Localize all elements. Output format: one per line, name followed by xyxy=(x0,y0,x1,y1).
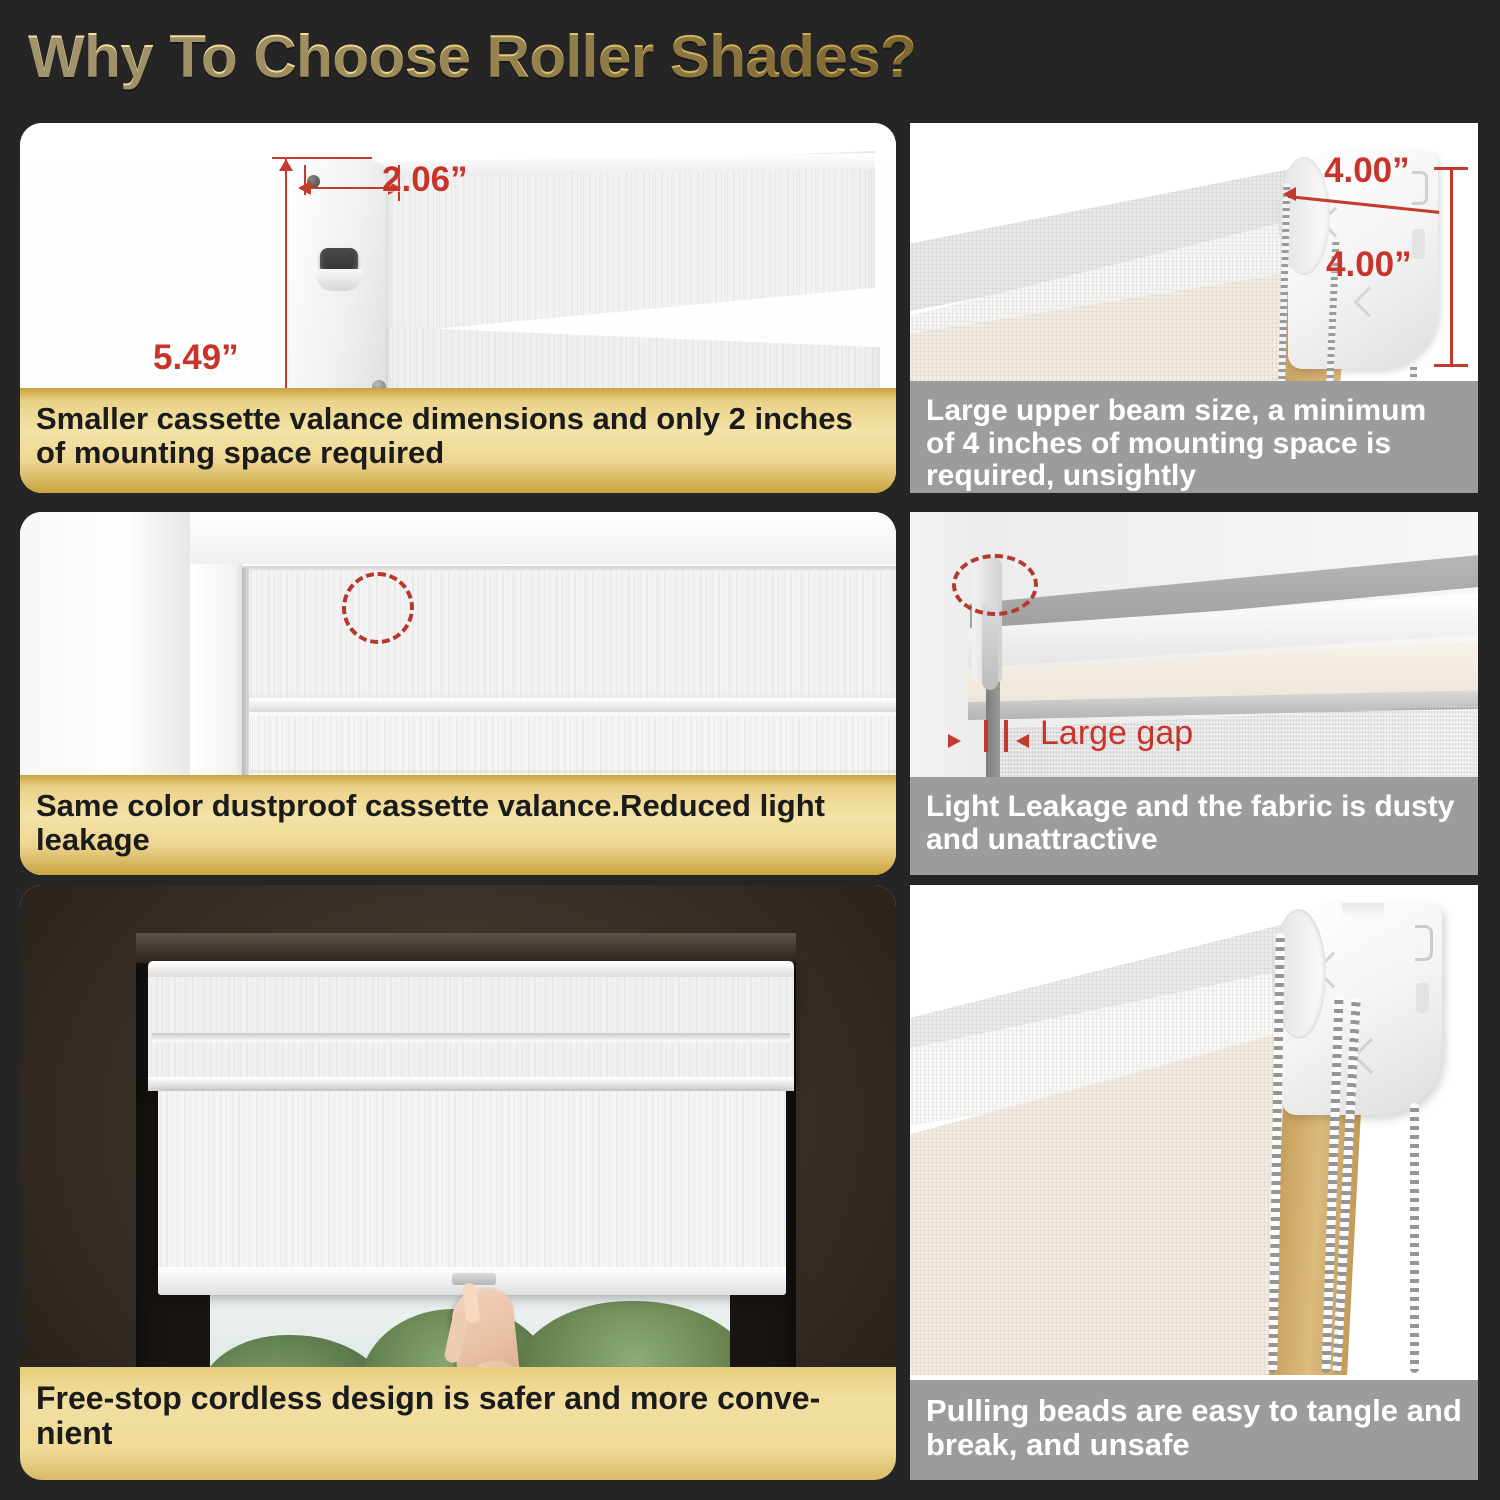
cassette-valance xyxy=(242,568,896,704)
panel-4-caption-text: Light Leakage and the fabric is dusty an… xyxy=(926,791,1462,856)
panel-4-caption: Light Leakage and the fabric is dusty an… xyxy=(910,777,1478,875)
clutch-bracket-mount-slot-2 xyxy=(1416,983,1429,1013)
clutch-bracket-mount-slot-1 xyxy=(1415,925,1433,961)
valance-top-edge xyxy=(148,961,794,977)
gap-tick-b xyxy=(1004,720,1008,752)
panel-6-caption-text: Pulling beads are easy to tangle and bre… xyxy=(926,1394,1462,1462)
valance-bottom-lip xyxy=(242,698,896,712)
bead-chain-4 xyxy=(1410,1103,1419,1373)
dim2-width-label: 4.00” xyxy=(1324,151,1410,191)
gap-arrow-right xyxy=(948,734,961,748)
panel-1-caption-text: Smaller cassette valance dimensions and … xyxy=(36,402,880,470)
gap-tick-a xyxy=(984,720,988,752)
valance-groove xyxy=(152,1033,790,1042)
clutch-bracket-mount-slot-2 xyxy=(1412,229,1425,259)
clutch-bracket-top-notch xyxy=(1342,903,1384,917)
valance-bottom-edge xyxy=(148,1077,794,1091)
panel-3-caption-text: Same color dustproof cassette valance.Re… xyxy=(36,789,880,857)
page-title: Why To Choose Roller Shades? xyxy=(28,22,916,91)
panel-2: 4.00” 4.00” Large upper beam size, a min… xyxy=(910,123,1478,493)
clutch-bracket-mount-slot-1 xyxy=(1412,171,1428,205)
panel-6-caption: Pulling beads are easy to tangle and bre… xyxy=(910,1380,1478,1480)
window-reveal-top xyxy=(136,933,796,963)
gap-label: Large gap xyxy=(1040,714,1193,753)
panel-2-caption: Large upper beam size, a minimum of 4 in… xyxy=(910,381,1478,493)
pull-tab-icon xyxy=(452,1273,496,1285)
panel-6: Pulling beads are easy to tangle and bre… xyxy=(910,885,1478,1480)
shade-fabric-main xyxy=(158,1091,786,1291)
panel-1: 5.49” 2.06” Smaller cassette valance dim… xyxy=(20,123,896,493)
dim2-height-tick-top xyxy=(1434,167,1468,170)
valance-top-line xyxy=(242,566,896,571)
cassette-valance-header xyxy=(148,967,794,1085)
panel-5: Free-stop cordless design is safer and m… xyxy=(20,885,896,1480)
panel-5-caption: Free-stop cordless design is safer and m… xyxy=(20,1367,896,1480)
dim-height-arrow-up xyxy=(279,159,293,171)
panel-4: Large gap Light Leakage and the fabric i… xyxy=(910,512,1478,875)
dim2-height-tick-bottom xyxy=(1434,364,1468,367)
dim2-height-label: 4.00” xyxy=(1326,245,1412,285)
panel-1-caption: Smaller cassette valance dimensions and … xyxy=(20,388,896,493)
window-head-jamb xyxy=(190,512,896,564)
bracket-slot-rim xyxy=(316,269,362,291)
panel-3-caption: Same color dustproof cassette valance.Re… xyxy=(20,775,896,875)
panel-2-caption-text: Large upper beam size, a minimum of 4 in… xyxy=(926,395,1462,493)
panel-3: smaller gap Same color dustproof cassett… xyxy=(20,512,896,875)
dim2-width-arrow-left xyxy=(1283,187,1296,201)
panel-5-caption-text: Free-stop cordless design is safer and m… xyxy=(36,1381,880,1451)
shade-fabric-seam xyxy=(250,770,896,773)
highlight-circle xyxy=(342,572,414,644)
infographic-root: Why To Choose Roller Shades? xyxy=(0,0,1500,1500)
dim-width-label: 2.06” xyxy=(382,160,468,200)
gap-arrow-left xyxy=(1016,734,1029,748)
dim2-height-line xyxy=(1450,167,1453,367)
dim-width-tick-left xyxy=(304,165,306,195)
highlight-circle xyxy=(952,554,1038,616)
dim-height-label: 5.49” xyxy=(153,338,239,378)
